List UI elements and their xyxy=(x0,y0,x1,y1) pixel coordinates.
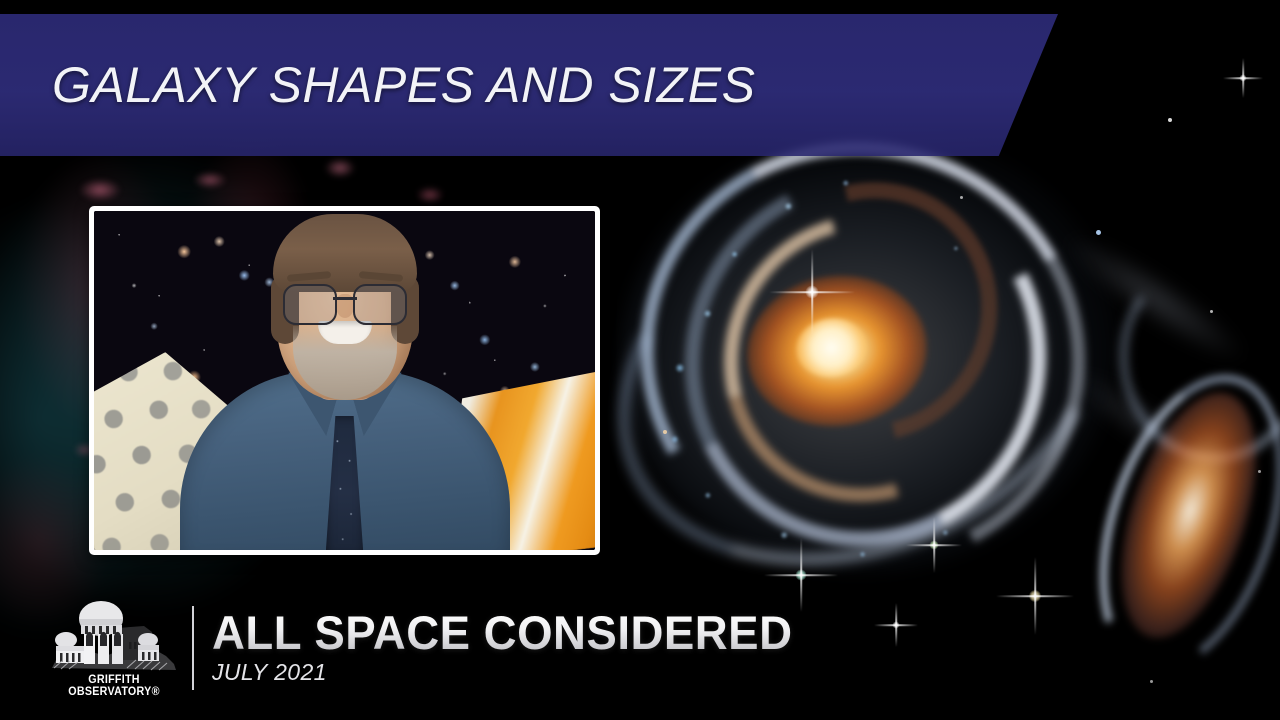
background-star xyxy=(960,196,963,199)
presenter-video-inset[interactable] xyxy=(89,206,600,555)
background-star xyxy=(1096,230,1101,235)
logo-wordmark: GRIFFITH OBSERVATORY® xyxy=(53,674,176,698)
background-star xyxy=(663,430,667,434)
eyeglass-bridge xyxy=(333,297,357,300)
brand-bar: GRIFFITH OBSERVATORY® ALL SPACE CONSIDER… xyxy=(48,598,810,698)
title-banner: GALAXY SHAPES AND SIZES xyxy=(0,14,1058,156)
eyeglass-lens-right xyxy=(353,284,407,325)
blue-star-clusters xyxy=(593,109,1148,604)
eyeglasses xyxy=(283,284,407,322)
background-star xyxy=(1210,310,1213,313)
presenter-video-feed xyxy=(94,211,595,550)
background-star xyxy=(1258,470,1261,473)
page-title: GALAXY SHAPES AND SIZES xyxy=(52,56,755,114)
program-block: ALL SPACE CONSIDERED JULY 2021 xyxy=(212,610,810,686)
brand-divider xyxy=(192,606,194,690)
registered-mark: ® xyxy=(152,686,160,698)
background-star xyxy=(1168,118,1172,122)
logo-wordmark-text: GRIFFITH OBSERVATORY xyxy=(68,674,151,698)
video-frame: GALAXY SHAPES AND SIZES xyxy=(0,0,1280,720)
griffith-observatory-logo: GRIFFITH OBSERVATORY® xyxy=(48,598,180,698)
program-title: ALL SPACE CONSIDERED xyxy=(212,610,792,656)
eyeglass-lens-left xyxy=(283,284,337,325)
background-star xyxy=(1150,680,1153,683)
observatory-building-icon xyxy=(48,598,180,678)
program-date: JULY 2021 xyxy=(212,659,810,686)
